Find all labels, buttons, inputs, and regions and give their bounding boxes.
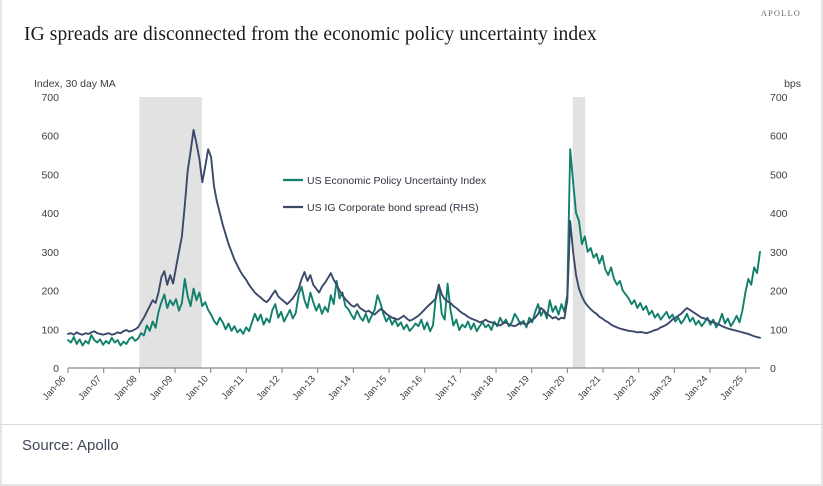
chart-page: APOLLO IG spreads are disconnected from … (0, 0, 823, 486)
y-axis-left-tick-label: 400 (41, 208, 59, 220)
y-axis-right-tick-label: 100 (770, 324, 788, 336)
x-axis-tick-label: Jan-12 (255, 374, 283, 403)
y-axis-right-ticks: 0100200300400500600700 (770, 92, 788, 375)
legend-label: US IG Corporate bond spread (RHS) (307, 202, 479, 214)
x-axis: Jan-06Jan-07Jan-08Jan-09Jan-10Jan-11Jan-… (41, 368, 760, 403)
x-axis-tick-label: Jan-08 (112, 374, 140, 403)
y-axis-left-tick-label: 500 (41, 169, 59, 181)
x-axis-tick-label: Jan-17 (433, 374, 461, 403)
y-axis-left-tick-label: 300 (41, 247, 59, 259)
x-axis-tick-label: Jan-15 (362, 374, 390, 403)
x-axis-tick-label: Jan-20 (540, 374, 568, 403)
y-axis-left-tick-label: 200 (41, 286, 59, 298)
x-axis-tick-label: Jan-21 (576, 374, 604, 403)
x-axis-tick-label: Jan-07 (76, 374, 104, 403)
x-axis-tick-label: Jan-23 (647, 374, 675, 403)
chart-svg: 0100200300400500600700 01002003004005006… (0, 0, 823, 430)
x-axis-tick-label: Jan-10 (183, 374, 211, 403)
x-axis-tick-label: Jan-24 (683, 374, 711, 403)
x-axis-tick-label: Jan-22 (611, 374, 639, 403)
x-axis-tick-label: Jan-14 (326, 374, 354, 403)
y-axis-right-tick-label: 700 (770, 92, 788, 104)
x-axis-tick-label: Jan-09 (148, 374, 176, 403)
y-axis-left-tick-label: 0 (53, 363, 59, 375)
y-axis-right-tick-label: 400 (770, 208, 788, 220)
chart-legend: US Economic Policy Uncertainty IndexUS I… (283, 175, 487, 214)
x-axis-tick-label: Jan-19 (504, 374, 532, 403)
y-axis-left-ticks: 0100200300400500600700 (41, 92, 59, 375)
y-axis-left-tick-label: 600 (41, 131, 59, 143)
footer-divider (0, 424, 823, 425)
legend-label: US Economic Policy Uncertainty Index (307, 175, 487, 187)
x-axis-tick-label: Jan-06 (41, 374, 69, 403)
recession-bands (139, 97, 585, 368)
y-axis-right-tick-label: 200 (770, 286, 788, 298)
y-axis-right-tick-label: 300 (770, 247, 788, 259)
x-axis-tick-label: Jan-11 (219, 374, 246, 402)
x-axis-tick-label: Jan-13 (290, 374, 318, 403)
y-axis-left-tick-label: 700 (41, 92, 59, 104)
y-axis-right-tick-label: 500 (770, 169, 788, 181)
x-axis-tick-label: Jan-18 (469, 374, 497, 403)
x-axis-tick-label: Jan-16 (397, 374, 425, 403)
y-axis-left-tick-label: 100 (41, 324, 59, 336)
y-axis-right-tick-label: 0 (770, 363, 776, 375)
y-axis-right-tick-label: 600 (770, 131, 788, 143)
recession-2020-band (573, 97, 585, 368)
source-note: Source: Apollo (22, 437, 119, 454)
x-axis-tick-label: Jan-25 (718, 374, 746, 403)
chart-plot-area: 0100200300400500600700 01002003004005006… (0, 0, 823, 430)
